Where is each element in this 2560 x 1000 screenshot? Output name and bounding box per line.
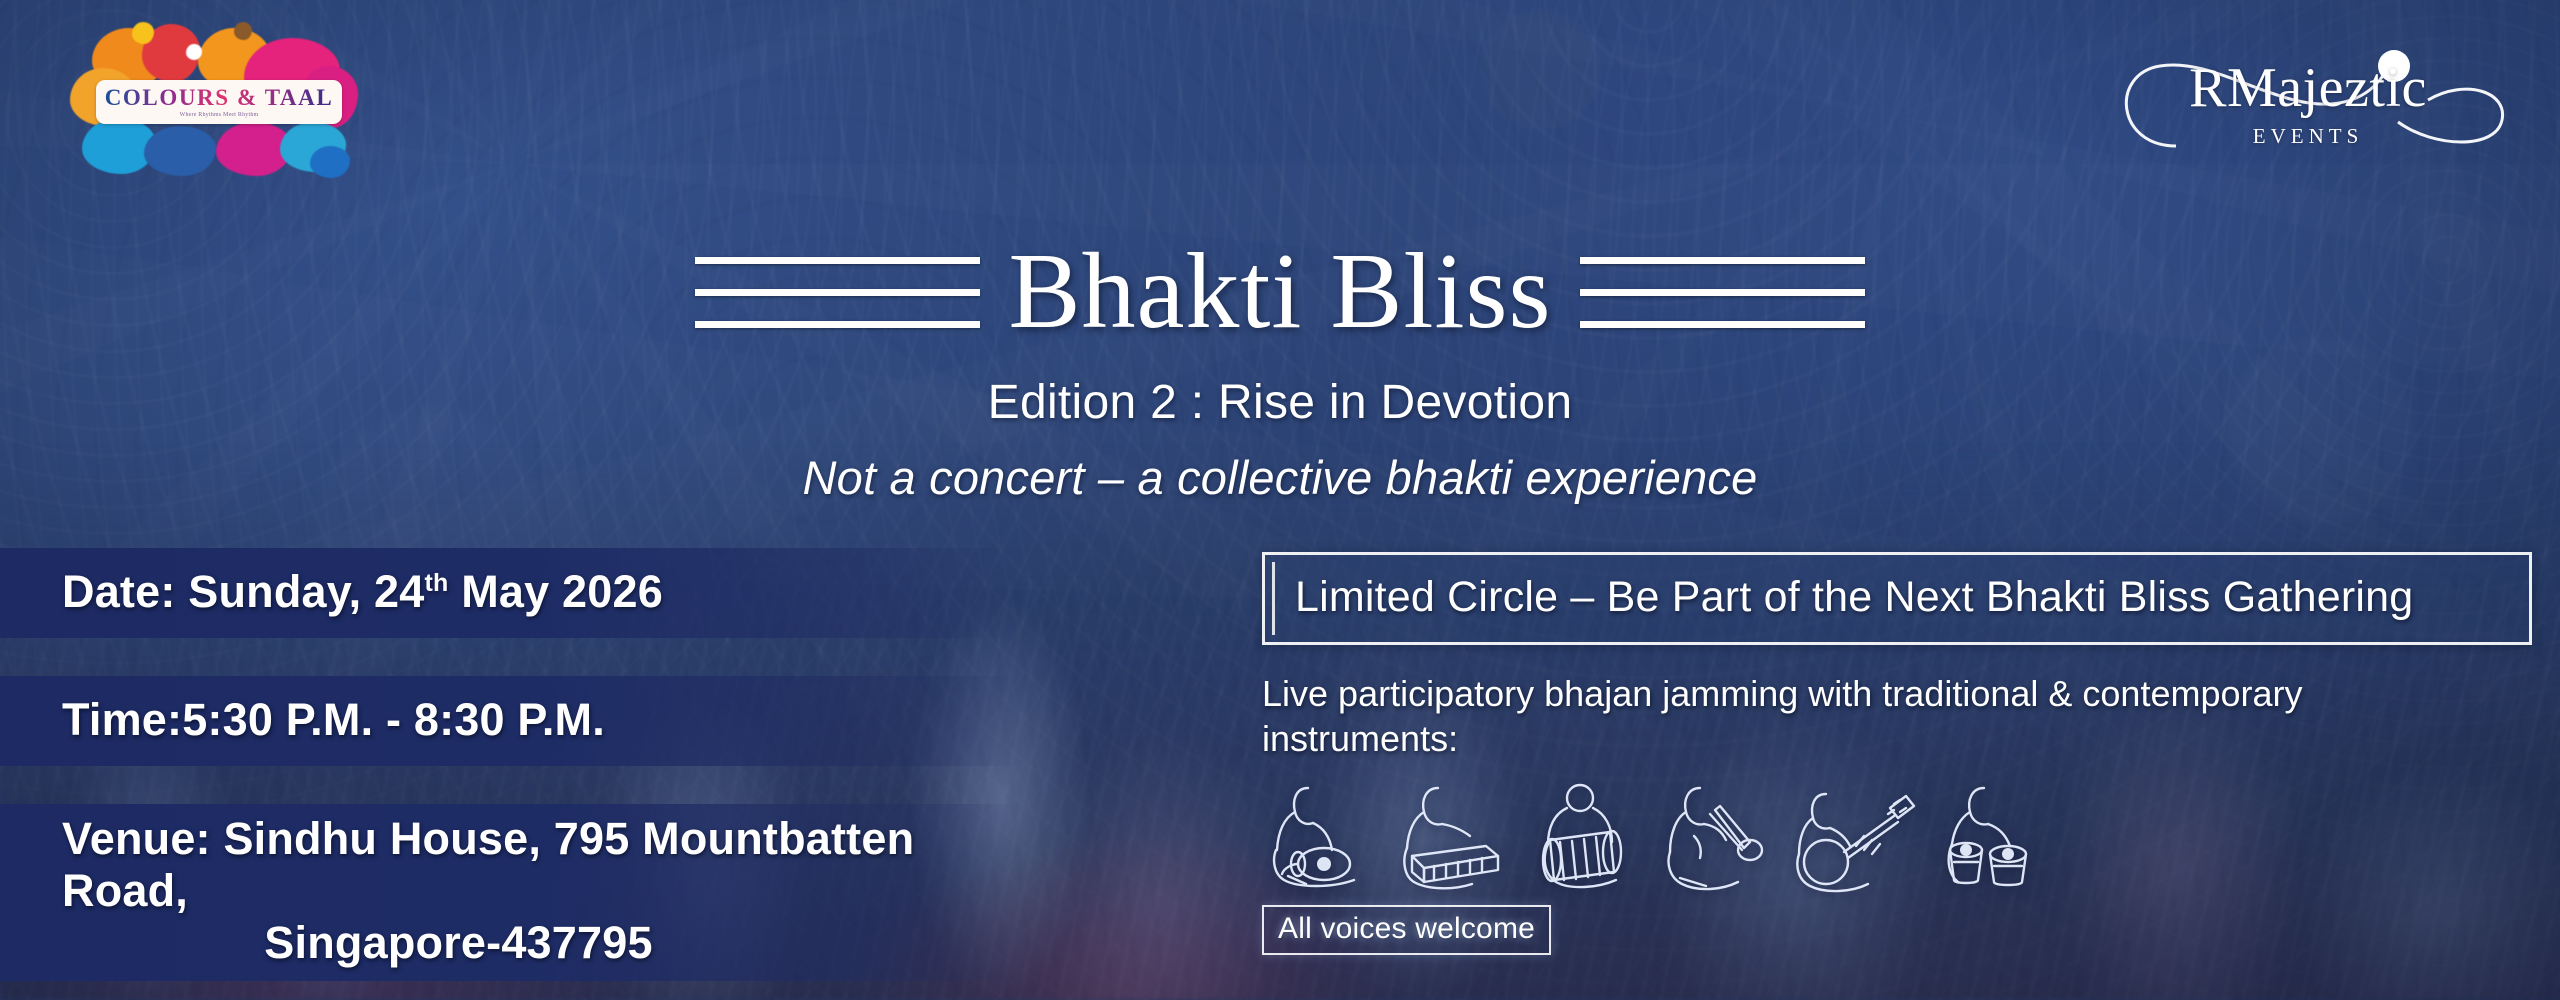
swoosh-dot-logo (2098, 26, 2518, 176)
colours-and-taal-logo[interactable]: COLOURS & TAAL Where Rhythms Meet Rhythm (48, 22, 388, 182)
logo-wordmark: COLOURS & TAAL (105, 86, 334, 109)
headline-accent-bar (1272, 562, 1275, 635)
promo-headline: Limited Circle – Be Part of the Next Bha… (1295, 573, 2503, 622)
date-text: Date: Sunday, 24th May 2026 (62, 566, 663, 618)
title-rules-right (1580, 257, 1865, 328)
date-value-sup: th (425, 569, 449, 597)
rmajeztic-events-logo[interactable]: RMajeztic EVENTS (2098, 26, 2518, 176)
mridangam-player-icon (1262, 780, 1382, 895)
date-value-prefix: Sunday, 24 (188, 566, 424, 617)
panel-gap (0, 638, 1025, 676)
panel-gap (0, 766, 1025, 804)
all-voices-badge: All voices welcome (1262, 905, 1551, 955)
edition-subtitle: Edition 2 : Rise in Devotion (0, 375, 2560, 430)
hero-tagline: Not a concert – a collective bhakti expe… (0, 450, 2560, 505)
sitar-player-icon (1790, 780, 1920, 895)
venue-label: Venue: (62, 813, 211, 864)
shehnai-player-icon (1658, 780, 1778, 895)
venue-line-2: Singapore-437795 (264, 917, 822, 969)
promo-column: Limited Circle – Be Part of the Next Bha… (1262, 552, 2532, 955)
page-title: Bhakti Bliss (1008, 238, 1551, 346)
event-details-panel: Date: Sunday, 24th May 2026 Time:5:30 P.… (0, 548, 1025, 981)
tabla-player-icon (1932, 780, 2052, 895)
title-rules-left (695, 257, 980, 328)
detail-row-venue: Venue: Sindhu House, 795 Mountbatten Roa… (0, 804, 1025, 981)
time-label: Time: (62, 694, 182, 745)
detail-row-time: Time:5:30 P.M. - 8:30 P.M. (0, 676, 1025, 766)
hero-title-row: Bhakti Bliss (0, 238, 2560, 346)
event-banner: COLOURS & TAAL Where Rhythms Meet Rhythm… (0, 0, 2560, 1000)
date-label: Date: (62, 566, 176, 617)
logo-tagline: Where Rhythms Meet Rhythm (180, 112, 259, 118)
promo-body: Live participatory bhajan jamming with t… (1262, 671, 2422, 762)
time-value: 5:30 P.M. - 8:30 P.M. (182, 694, 605, 745)
instrument-illustrations (1262, 780, 2532, 895)
venue-line-1: Venue: Sindhu House, 795 Mountbatten Roa… (62, 813, 1025, 917)
date-value-suffix: May 2026 (449, 566, 663, 617)
dholak-player-icon (1526, 780, 1646, 895)
promo-headline-box: Limited Circle – Be Part of the Next Bha… (1262, 552, 2532, 645)
harmonium-player-icon (1394, 780, 1514, 895)
logo-nameplate: COLOURS & TAAL Where Rhythms Meet Rhythm (96, 80, 342, 124)
detail-row-date: Date: Sunday, 24th May 2026 (0, 548, 1025, 638)
time-text: Time:5:30 P.M. - 8:30 P.M. (62, 694, 605, 746)
